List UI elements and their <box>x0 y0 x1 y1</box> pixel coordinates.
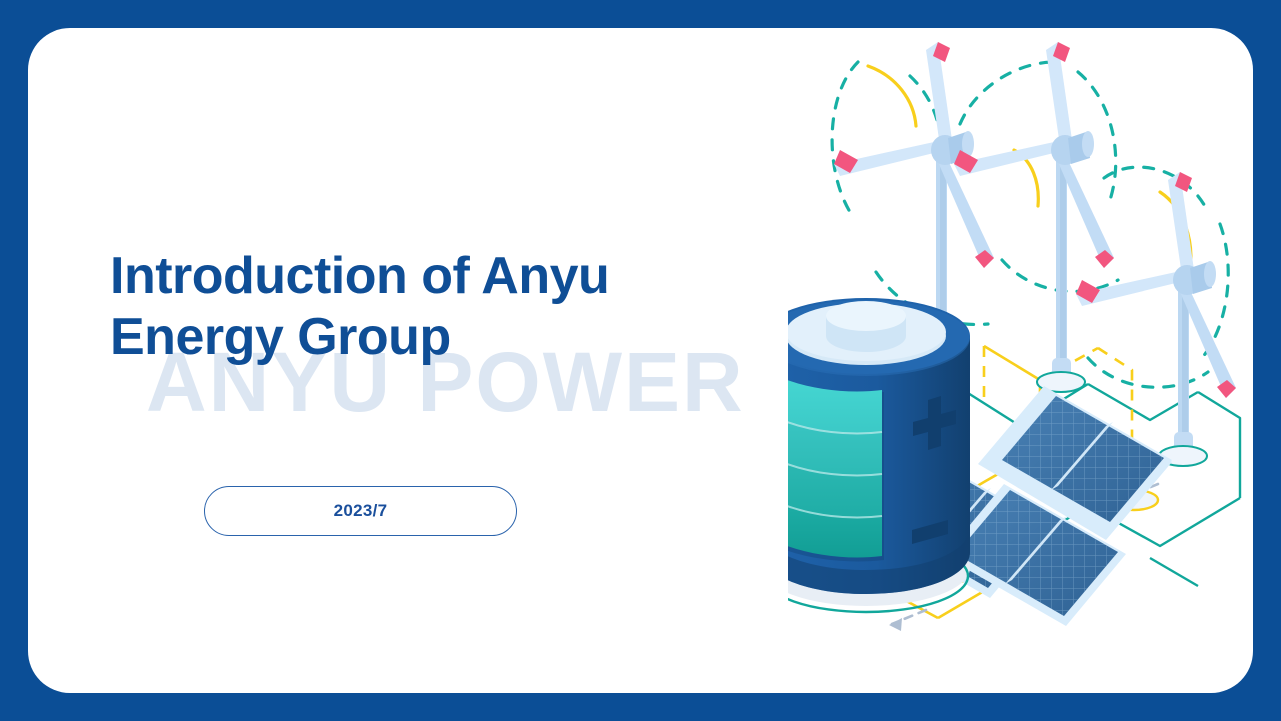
battery-charge-indicator <box>788 378 884 562</box>
date-badge-label: 2023/7 <box>334 501 388 521</box>
slide-root: ANYU POWER Introduction of Anyu Energy G… <box>0 0 1281 721</box>
date-badge[interactable]: 2023/7 <box>204 486 517 536</box>
wind-turbine <box>954 42 1118 392</box>
slide-card: ANYU POWER Introduction of Anyu Energy G… <box>28 28 1253 693</box>
page-title-line-1: Introduction of Anyu <box>110 246 750 307</box>
battery <box>788 298 970 612</box>
renewable-energy-illustration <box>788 28 1253 693</box>
page-title-line-2: Energy Group <box>110 307 750 368</box>
page-title: Introduction of Anyu Energy Group <box>110 246 750 369</box>
